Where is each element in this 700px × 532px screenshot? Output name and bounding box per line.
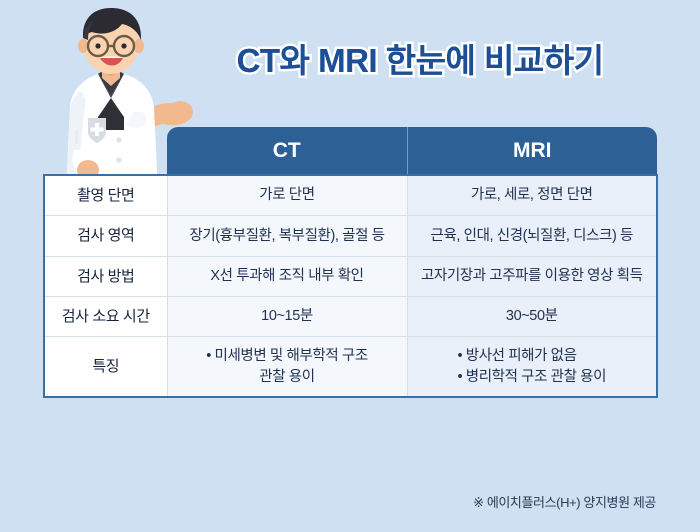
cell-line: 골절 등 [342,228,384,244]
bullet-item: • 미세병변 및 해부학적 구조 [206,346,368,367]
table-header: CT MRI [44,127,657,175]
bullet-item: • 방사선 피해가 없음 [457,346,606,367]
cell-line: 근육, 인대, [431,228,494,244]
cell-ct-exam-method: X선 투과해 조직 내부 확인 [167,256,407,296]
header-cell-mri: MRI [407,127,657,175]
cell-ct-features: • 미세병변 및 해부학적 구조 관찰 용이 [167,337,407,398]
cell-ct-exam-area: 장기(흉부질환, 복부질환), 골절 등 [167,216,407,256]
table-row: 검사 영역 장기(흉부질환, 복부질환), 골절 등 근육, 인대, 신경(뇌질… [44,216,657,256]
cell-mri-imaging-plane: 가로, 세로, 정면 단면 [407,175,657,216]
bullet-item: • 병리학적 구조 관찰 용이 [457,367,606,388]
bullet-item-continuation: 관찰 용이 [206,367,368,388]
row-label-exam-method: 검사 방법 [44,256,167,296]
cell-ct-exam-duration: 10~15분 [167,296,407,336]
table-body: 촬영 단면 가로 단면 가로, 세로, 정면 단면 검사 영역 장기(흉부질환,… [44,175,657,397]
cell-ct-imaging-plane: 가로 단면 [167,175,407,216]
cell-mri-exam-duration: 30~50분 [407,296,657,336]
bullet-list: • 미세병변 및 해부학적 구조 관찰 용이 [206,346,368,387]
ct-mri-comparison-table: CT MRI 촬영 단면 가로 단면 가로, 세로, 정면 단면 검사 영역 장… [43,127,658,398]
footnote-source: ※ 에이치플러스(H+) 양지병원 제공 [473,492,656,511]
row-label-features: 특징 [44,337,167,398]
cell-mri-exam-method: 고자기장과 고주파를 이용한 영상 획득 [407,256,657,296]
table-row: 검사 소요 시간 10~15분 30~50분 [44,296,657,336]
page-title-outline: CT와 MRI 한눈에 비교하기 [185,34,655,82]
cell-line: 신경(뇌질환, 디스크) 등 [497,228,633,244]
row-label-imaging-plane: 촬영 단면 [44,175,167,216]
row-label-exam-area: 검사 영역 [44,216,167,256]
header-cell-empty [44,127,167,175]
table-row: 검사 방법 X선 투과해 조직 내부 확인 고자기장과 고주파를 이용한 영상 … [44,256,657,296]
comparison-table-container: CT MRI 촬영 단면 가로 단면 가로, 세로, 정면 단면 검사 영역 장… [43,127,656,398]
header-cell-ct: CT [167,127,407,175]
table-row: 촬영 단면 가로 단면 가로, 세로, 정면 단면 [44,175,657,216]
bullet-list: • 방사선 피해가 없음 • 병리학적 구조 관찰 용이 [457,346,606,387]
row-label-exam-duration: 검사 소요 시간 [44,296,167,336]
cell-mri-exam-area: 근육, 인대, 신경(뇌질환, 디스크) 등 [407,216,657,256]
table-row: 특징 • 미세병변 및 해부학적 구조 관찰 용이 • 방사선 피해가 없음 •… [44,337,657,398]
cell-mri-features: • 방사선 피해가 없음 • 병리학적 구조 관찰 용이 [407,337,657,398]
cell-line: 장기(흉부질환, 복부질환), [189,228,338,244]
table-header-row: CT MRI [44,127,657,175]
